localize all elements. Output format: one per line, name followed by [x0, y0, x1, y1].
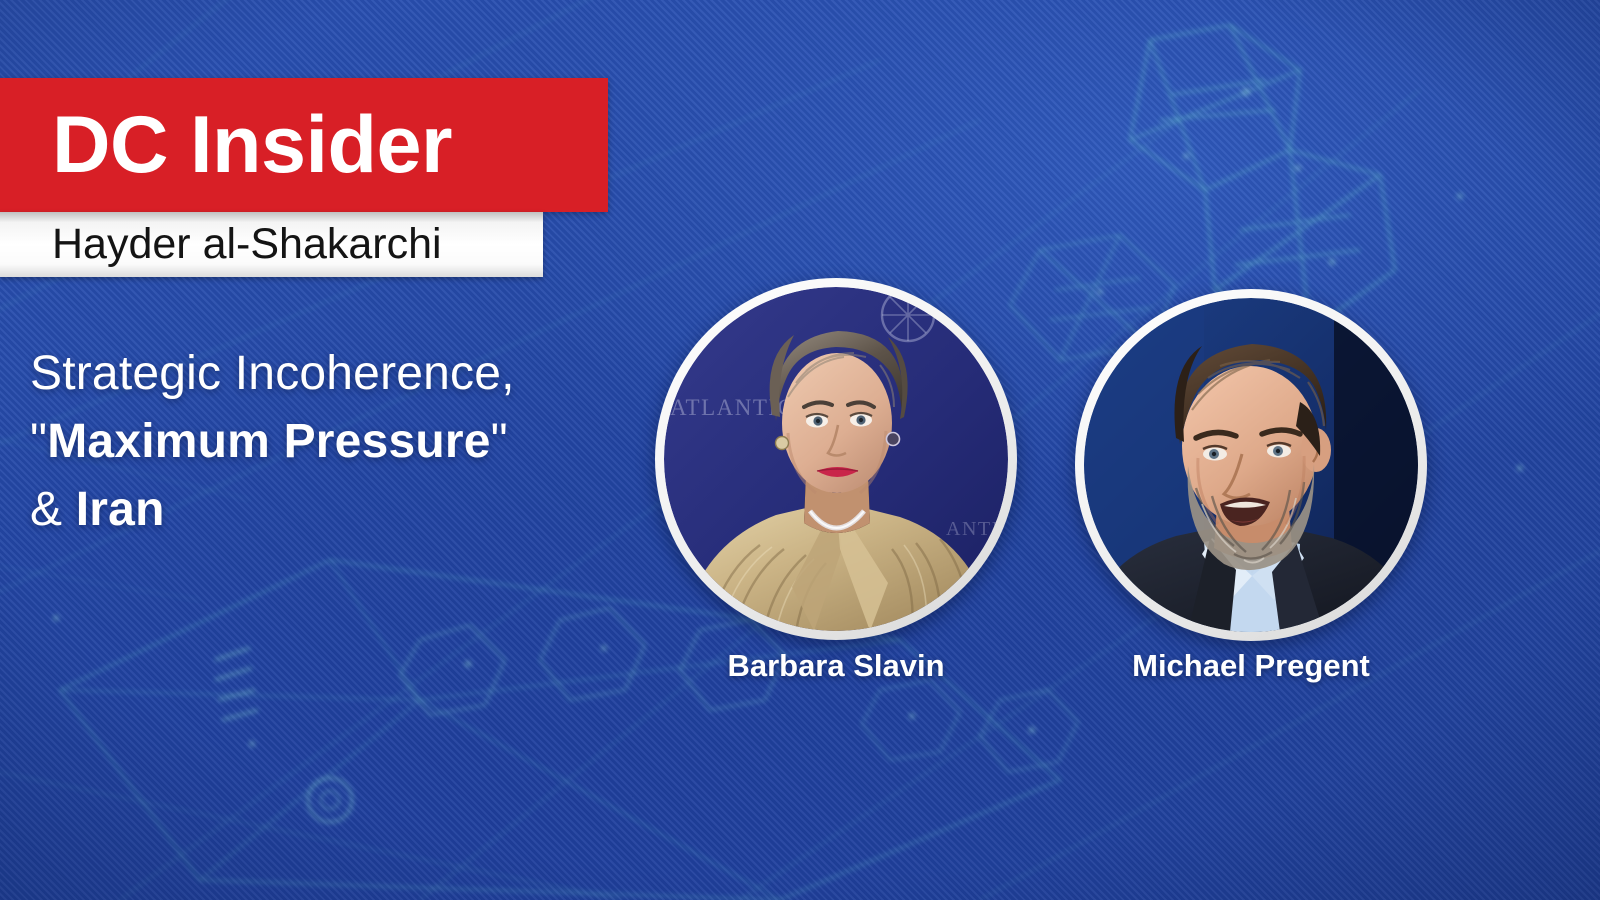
headline-line-1: Strategic Incoherence, — [30, 340, 650, 408]
host-name-banner: Hayder al-Shakarchi — [0, 212, 543, 277]
show-title: DC Insider — [0, 105, 452, 186]
portrait-photo-2 — [1084, 298, 1418, 632]
headline-ampersand: & — [30, 483, 76, 536]
headline-quote-close: " — [491, 415, 508, 468]
guest-name-2: Michael Pregent — [1051, 650, 1451, 681]
show-title-banner: DC Insider — [0, 78, 608, 212]
headline-emphasis-maximum-pressure: Maximum Pressure — [47, 415, 490, 468]
headline-quote-open: " — [30, 415, 47, 468]
broadcast-title-card: DC Insider Hayder al-Shakarchi Strategic… — [0, 0, 1600, 900]
headline-line-2: "Maximum Pressure" — [30, 408, 650, 476]
host-name: Hayder al-Shakarchi — [0, 223, 442, 266]
guest-card-1: ATLANTIC ANTI — [655, 278, 1017, 678]
guest-card-2: Michael Pregent — [1075, 289, 1427, 689]
episode-headline: Strategic Incoherence, "Maximum Pressure… — [30, 340, 650, 544]
portrait-photo-1: ATLANTIC ANTI — [664, 287, 1008, 631]
guest-name-1: Barbara Slavin — [655, 650, 1017, 681]
headline-line-3: & Iran — [30, 476, 650, 544]
headline-emphasis-iran: Iran — [76, 483, 165, 536]
